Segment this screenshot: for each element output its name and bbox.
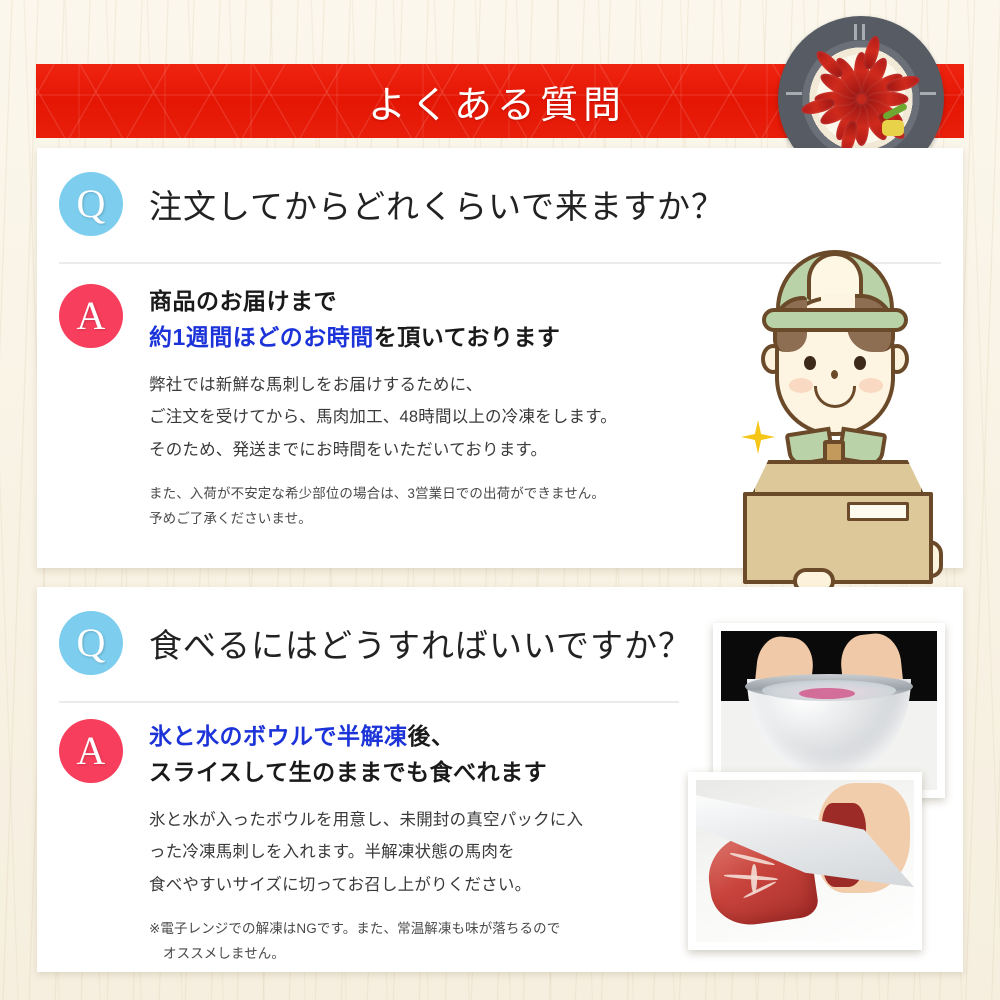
answer-body-line: 弊社では新鮮な馬刺しをお届けするために、 — [149, 369, 617, 401]
question-text: 注文してからどれくらいで来ますか？ — [149, 180, 725, 228]
answer-row-1: A 商品のお届けまで 約1週間ほどのお時間を頂いております 弊社では新鮮な馬刺し… — [59, 284, 617, 532]
box-shipping-label — [847, 502, 909, 521]
qa-divider — [59, 701, 679, 703]
answer-body: 弊社では新鮮な馬刺しをお届けするために、 ご注文を受けてから、馬肉加工、48時間… — [149, 369, 617, 466]
sparkle-icon — [741, 420, 775, 454]
answer-head-line-1: 氷と水のボウルで半解凍後、 — [149, 719, 583, 755]
answer-body-line: ご注文を受けてから、馬肉加工、48時間以上の冷凍をします。 — [149, 401, 617, 433]
answer-head-line-2: スライスして生のままでも食べれます — [149, 755, 583, 791]
plate-rim-mark — [862, 24, 865, 40]
answer-content: 氷と水のボウルで半解凍後、 スライスして生のままでも食べれます 氷と水が入ったボ… — [149, 719, 583, 967]
answer-note-line: また、入荷が不安定な希少部位の場合は、3営業日での出荷ができません。 — [149, 482, 617, 507]
answer-head-highlight: 約1週間ほどのお時間 — [149, 324, 374, 350]
answer-note-line: ※電子レンジでの解凍はNGです。また、常温解凍も味が落ちるので — [149, 917, 583, 942]
answer-content: 商品のお届けまで 約1週間ほどのお時間を頂いております 弊社では新鮮な馬刺しをお… — [149, 284, 617, 532]
answer-row-2: A 氷と水のボウルで半解凍後、 スライスして生のままでも食べれます 氷と水が入っ… — [59, 719, 583, 967]
eye-right — [854, 356, 866, 370]
question-row-2: Q 食べるにはどうすればいいですか？ — [59, 611, 692, 675]
answer-note: ※電子レンジでの解凍はNGです。また、常温解凍も味が落ちるので オススメしません… — [149, 917, 583, 967]
photo-slicing-meat — [688, 772, 922, 950]
nose — [831, 370, 838, 379]
photo-inner — [696, 780, 914, 942]
delivery-man-illustration — [735, 248, 950, 523]
marbling — [751, 864, 757, 893]
answer-badge: A — [59, 284, 123, 348]
answer-note: また、入荷が不安定な希少部位の場合は、3営業日での出荷ができません。 予めご了承… — [149, 482, 617, 532]
cap-panel — [807, 252, 863, 300]
answer-head-plain: 後、 — [408, 723, 455, 749]
cardboard-box-lid — [751, 460, 925, 496]
plate-rim-mark — [854, 24, 857, 40]
answer-body-line: 食べやすいサイズに切ってお召し上がりください。 — [149, 869, 583, 901]
answer-body: 氷と水が入ったボウルを用意し、未開封の真空パックに入 った冷凍馬刺しを入れます。… — [149, 804, 583, 901]
cheek-left — [789, 378, 813, 393]
plate-rim-mark — [786, 92, 802, 95]
question-row-1: Q 注文してからどれくらいで来ますか？ — [59, 172, 725, 236]
cap-brim — [762, 308, 908, 332]
question-badge: Q — [59, 172, 123, 236]
plate-rim-mark — [920, 92, 936, 95]
question-badge: Q — [59, 611, 123, 675]
answer-note-line: オススメしません。 — [149, 942, 583, 967]
answer-note-line: 予めご了承くださいませ。 — [149, 507, 617, 532]
answer-head-plain: を頂いております — [374, 324, 561, 350]
eye-left — [804, 356, 816, 370]
answer-head-plain: 商品のお届けまで — [149, 288, 337, 314]
answer-head-plain: スライスして生のままでも食べれます — [149, 759, 547, 785]
question-text: 食べるにはどうすればいいですか？ — [149, 619, 692, 667]
answer-body-line: 氷と水が入ったボウルを用意し、未開封の真空パックに入 — [149, 804, 583, 836]
answer-head-line-2: 約1週間ほどのお時間を頂いております — [149, 320, 617, 356]
marbling — [743, 881, 776, 899]
answer-head-highlight: 氷と水のボウルで半解凍 — [149, 723, 408, 749]
answer-head-line-1: 商品のお届けまで — [149, 284, 617, 320]
photo-inner — [721, 631, 937, 790]
ginger-garnish — [882, 120, 904, 136]
answer-body-line: そのため、発送までにお時間をいただいております。 — [149, 434, 617, 466]
answer-badge: A — [59, 719, 123, 783]
cheek-right — [859, 378, 883, 393]
answer-body-line: った冷凍馬刺しを入れます。半解凍状態の馬肉を — [149, 836, 583, 868]
